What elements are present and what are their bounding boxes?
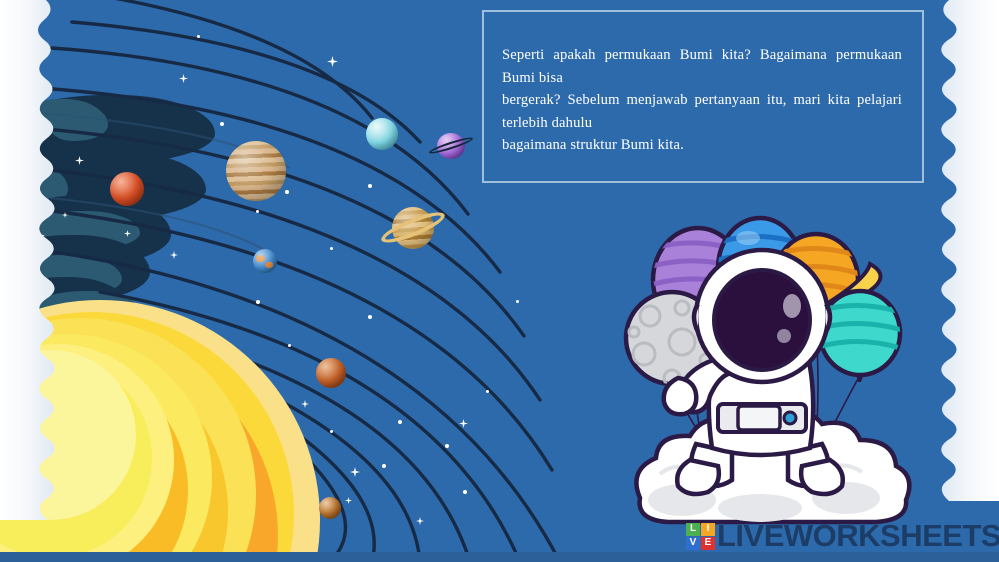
astronaut-illustration xyxy=(620,208,920,538)
jupiter-planet xyxy=(226,141,286,201)
astronaut-helmet xyxy=(694,250,830,382)
venus-planet xyxy=(319,497,341,519)
earth-planet xyxy=(253,249,277,273)
liveworksheets-watermark: L I V E LIVEWORKSHEETS xyxy=(686,518,999,554)
saturn-planet xyxy=(392,207,434,249)
watermark-text: LIVEWORKSHEETS xyxy=(717,518,999,554)
right-cloud-border xyxy=(927,0,999,562)
question-line-3: bagaimana struktur Bumi kita. xyxy=(502,134,902,157)
logo-tile-e: E xyxy=(701,537,715,550)
left-cloud-border xyxy=(0,0,66,562)
logo-tile-i: I xyxy=(701,523,715,536)
mars-red-planet xyxy=(110,172,144,206)
question-text-block: Seperti apakah permukaan Bumi kita? Baga… xyxy=(502,44,902,157)
mercury-planet xyxy=(316,358,346,388)
question-textbox: Seperti apakah permukaan Bumi kita? Baga… xyxy=(482,10,924,183)
teal-planet-balloon xyxy=(820,291,902,382)
question-line-1: Seperti apakah permukaan Bumi kita? Baga… xyxy=(502,44,902,89)
neptune-planet xyxy=(437,133,465,159)
logo-tile-l: L xyxy=(686,523,700,536)
question-line-2: bergerak? Sebelum menjawab pertanyaan it… xyxy=(502,89,902,134)
logo-tile-v: V xyxy=(686,537,700,550)
liveworksheets-logo-icon: L I V E xyxy=(686,523,715,550)
worksheet-canvas: Seperti apakah permukaan Bumi kita? Baga… xyxy=(0,0,999,562)
uranus-planet xyxy=(366,118,398,150)
